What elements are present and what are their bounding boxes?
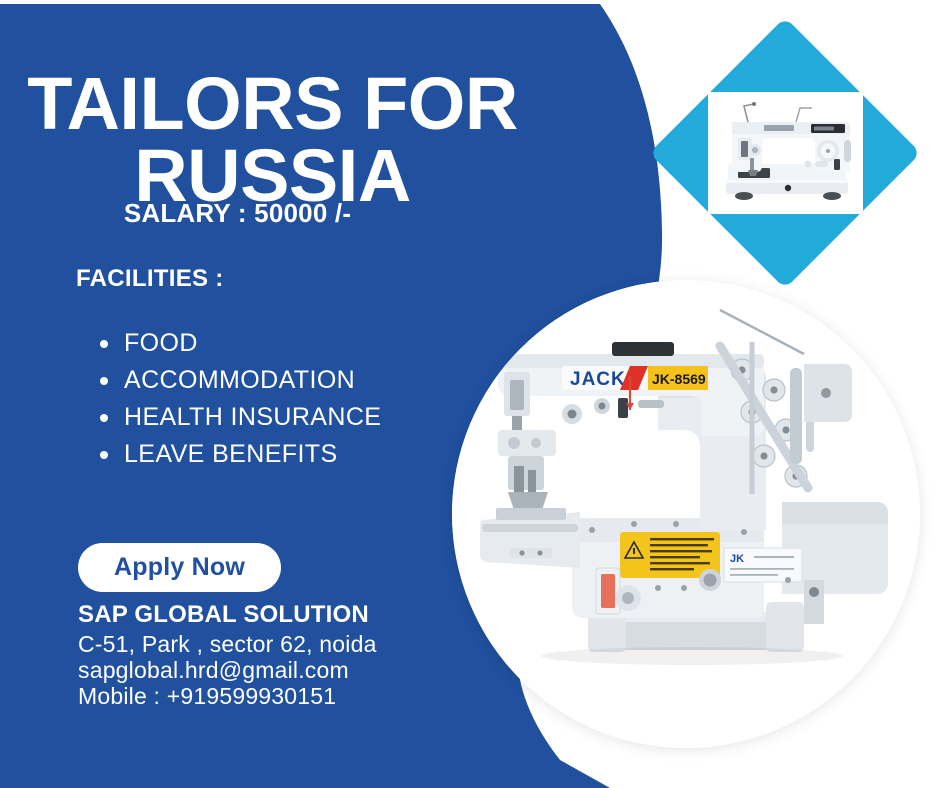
apply-now-button[interactable]: Apply Now	[78, 543, 281, 592]
svg-text:JACK: JACK	[570, 369, 626, 390]
list-item: ACCOMMODATION	[124, 362, 381, 399]
list-item: LEAVE BENEFITS	[124, 436, 381, 473]
list-item: HEALTH INSURANCE	[124, 399, 381, 436]
contact-mobile[interactable]: Mobile : +919599930151	[78, 683, 377, 709]
diamond-badge	[650, 18, 920, 288]
contact-email[interactable]: sapglobal.hrd@gmail.com	[78, 657, 377, 683]
diamond-sewing-machine-photo	[708, 92, 863, 214]
svg-text:JK: JK	[730, 553, 744, 565]
facilities-list: FOOD ACCOMMODATION HEALTH INSURANCE LEAV…	[96, 325, 381, 473]
list-item: FOOD	[124, 325, 381, 362]
recruitment-poster: JACK JK-8569	[0, 0, 940, 788]
contact-address: C-51, Park , sector 62, noida	[78, 631, 377, 657]
svg-text:JK-8569: JK-8569	[652, 371, 706, 387]
contact-details: C-51, Park , sector 62, noida sapglobal.…	[78, 631, 377, 709]
page-title: TAILORS FOR RUSSIA	[0, 68, 545, 213]
company-name: SAP GLOBAL SOLUTION	[78, 601, 369, 629]
salary-text: SALARY : 50000 /-	[0, 198, 475, 229]
headline-line-1: TAILORS FOR	[27, 62, 518, 145]
facilities-heading: FACILITIES :	[76, 265, 224, 293]
poster-content: TAILORS FOR RUSSIA SALARY : 50000 /- FAC…	[0, 0, 560, 788]
